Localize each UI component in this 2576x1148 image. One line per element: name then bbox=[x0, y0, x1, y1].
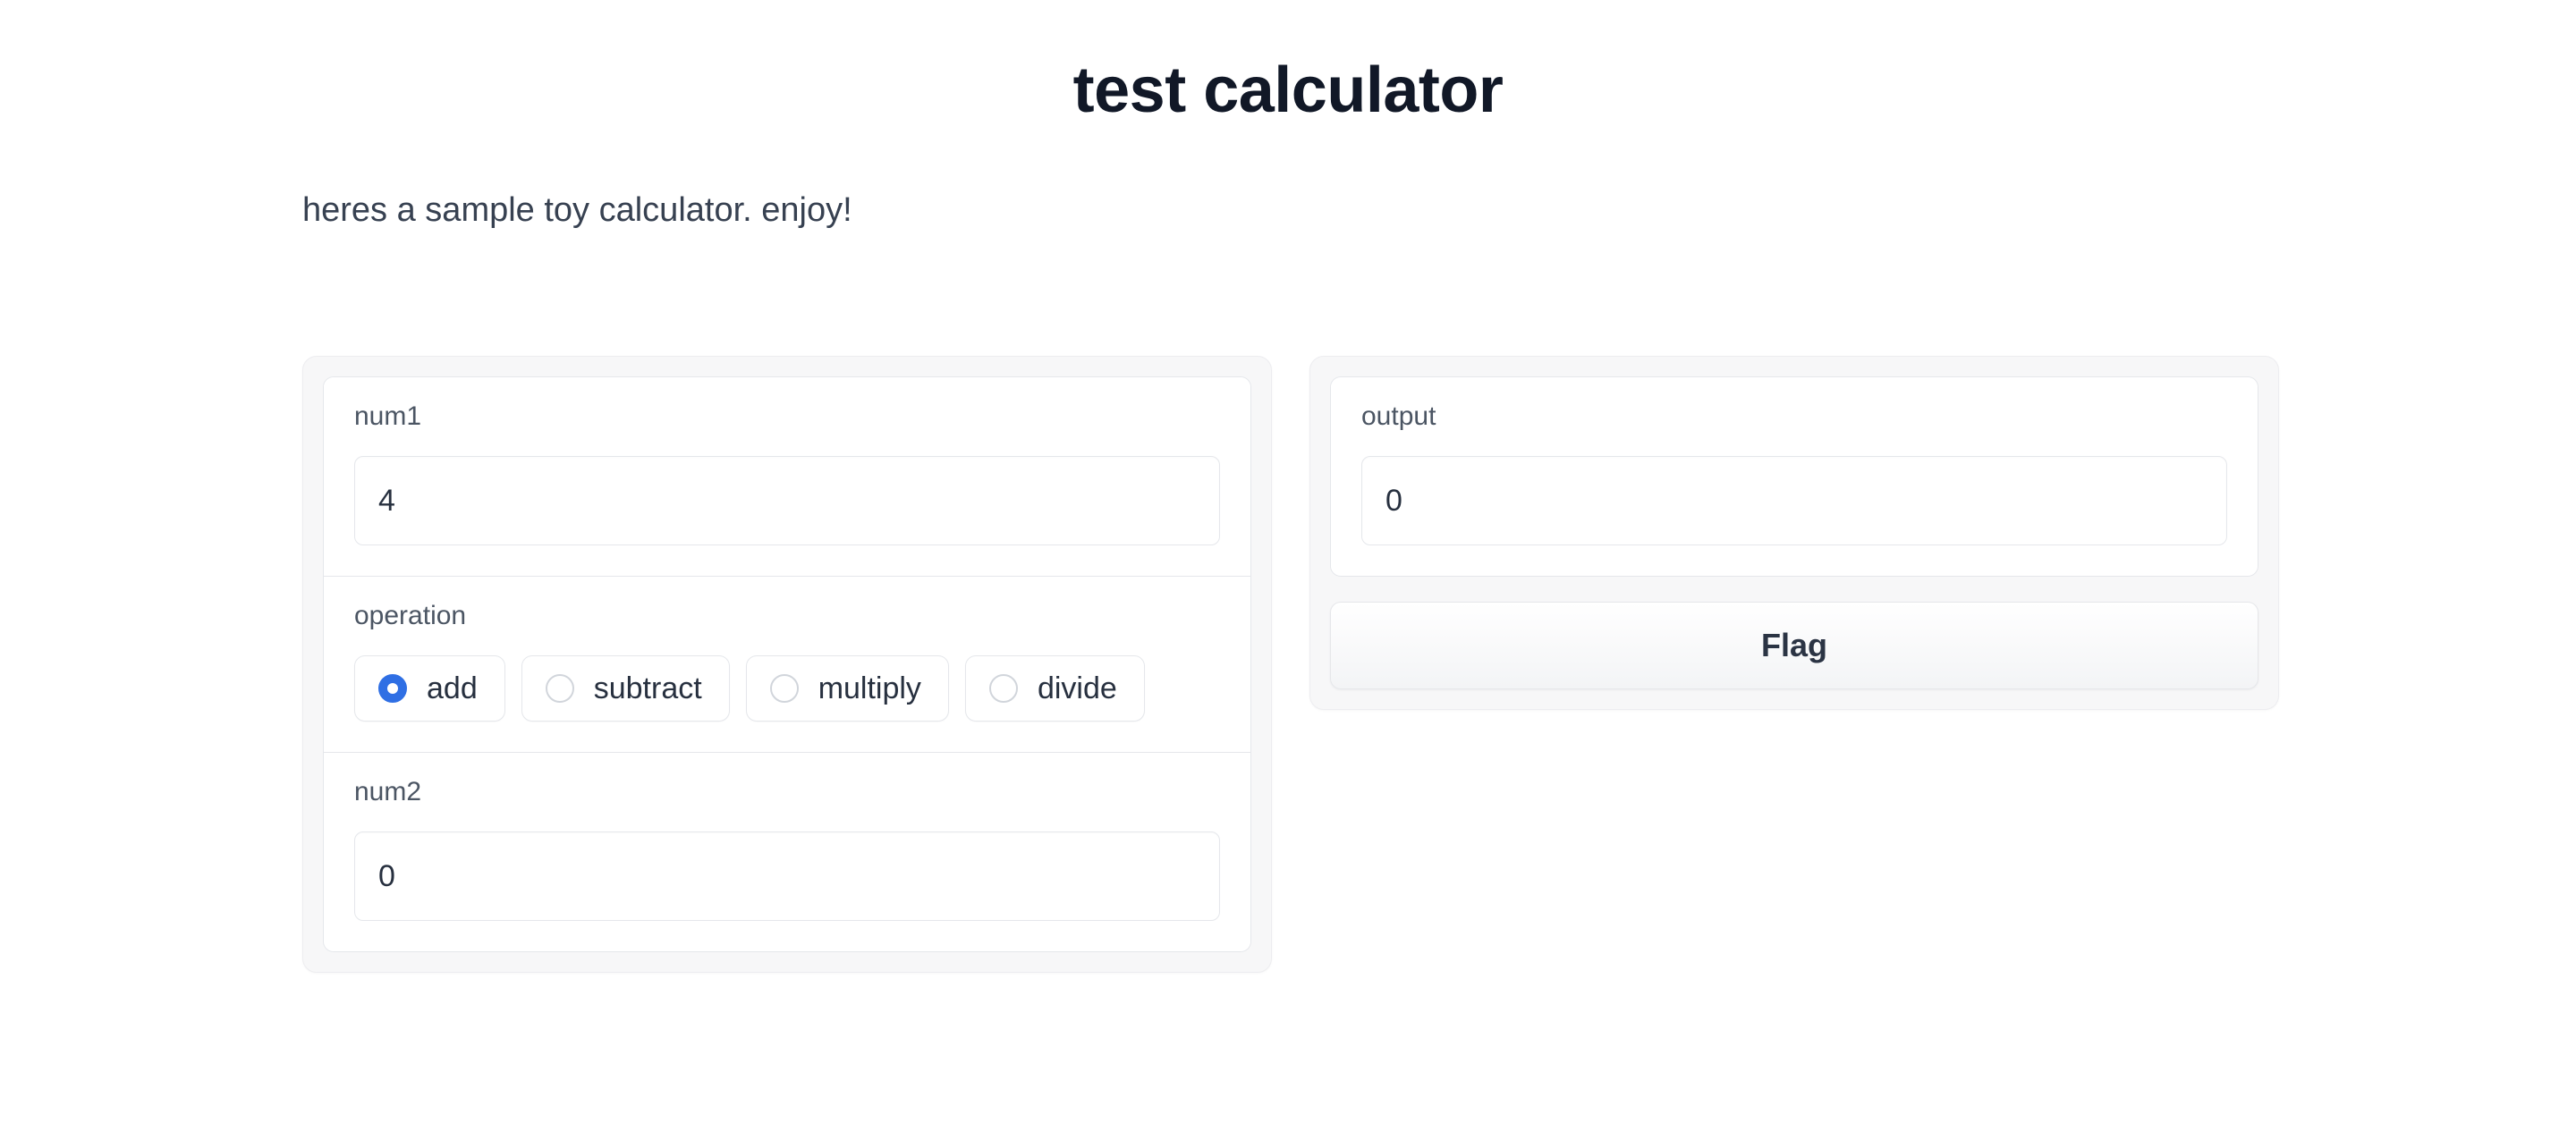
flag-button[interactable]: Flag bbox=[1330, 602, 2258, 689]
num1-block: num1 bbox=[324, 377, 1250, 576]
radio-option-multiply[interactable]: multiply bbox=[746, 655, 949, 722]
page-subtitle: heres a sample toy calculator. enjoy! bbox=[0, 126, 2576, 234]
output-form-card: output bbox=[1330, 376, 2258, 577]
radio-unselected-icon bbox=[770, 674, 799, 703]
output-input[interactable] bbox=[1361, 456, 2227, 545]
radio-option-add[interactable]: add bbox=[354, 655, 505, 722]
radio-option-multiply-label: multiply bbox=[818, 673, 921, 704]
output-block: output bbox=[1331, 377, 2258, 576]
num2-input[interactable] bbox=[354, 831, 1220, 921]
radio-option-add-label: add bbox=[427, 673, 478, 704]
radio-option-divide-label: divide bbox=[1038, 673, 1117, 704]
num2-block: num2 bbox=[324, 752, 1250, 951]
operation-radio-group: add subtract multiply divide bbox=[354, 655, 1159, 722]
radio-unselected-icon bbox=[546, 674, 574, 703]
radio-option-divide[interactable]: divide bbox=[965, 655, 1145, 722]
input-panel: num1 operation add subtract bbox=[302, 356, 1272, 973]
page-title: test calculator bbox=[0, 0, 2576, 126]
radio-option-subtract-label: subtract bbox=[594, 673, 702, 704]
columns-layout: num1 operation add subtract bbox=[302, 356, 2279, 973]
operation-block: operation add subtract multiply bbox=[324, 576, 1250, 752]
radio-option-subtract[interactable]: subtract bbox=[521, 655, 730, 722]
num2-label: num2 bbox=[354, 776, 1220, 808]
radio-unselected-icon bbox=[989, 674, 1018, 703]
num1-label: num1 bbox=[354, 401, 1220, 433]
output-panel: output Flag bbox=[1309, 356, 2279, 710]
input-form-card: num1 operation add subtract bbox=[323, 376, 1251, 952]
output-label: output bbox=[1361, 401, 2227, 433]
num1-input[interactable] bbox=[354, 456, 1220, 545]
operation-label: operation bbox=[354, 600, 1220, 632]
app-root: test calculator heres a sample toy calcu… bbox=[0, 0, 2576, 1148]
radio-selected-icon bbox=[378, 674, 407, 703]
